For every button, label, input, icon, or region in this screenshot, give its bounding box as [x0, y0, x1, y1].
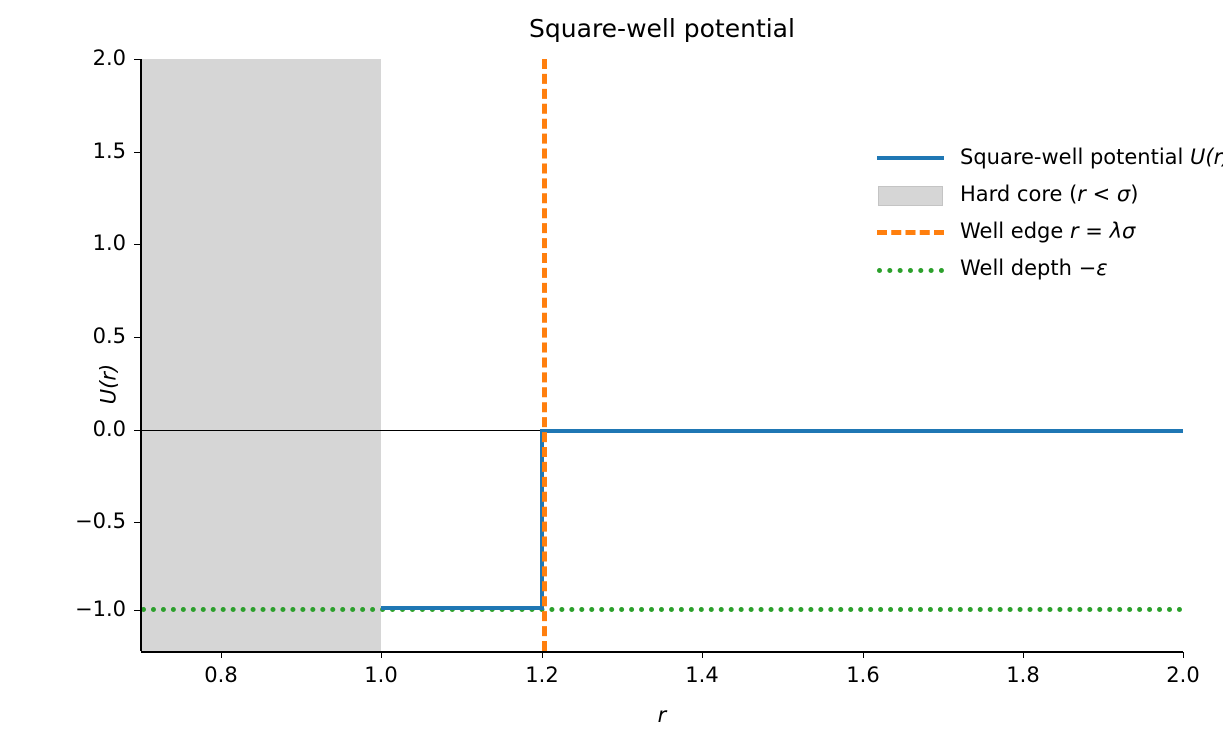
- y-tick-label: 0.5: [16, 324, 126, 349]
- x-tick-label: 2.0: [1143, 663, 1223, 688]
- potential-curve-well-segment: [381, 606, 544, 610]
- well-edge-dashed-line: [542, 59, 547, 651]
- x-tick-mark: [1023, 652, 1024, 658]
- page-title: Square-well potential: [141, 14, 1183, 44]
- x-tick-label: 1.6: [823, 663, 903, 688]
- dashed-line-handle-icon: [877, 220, 944, 244]
- well-depth-dotted-line: [141, 607, 1183, 612]
- x-tick-mark: [1183, 652, 1184, 658]
- matplotlib-figure: Square-well potential 0.8 1.0 1.2 1.4 1.…: [0, 0, 1223, 751]
- x-tick-mark: [863, 652, 864, 658]
- potential-curve-outer-segment: [540, 429, 1183, 433]
- plot-axes: 0.8 1.0 1.2 1.4 1.6 1.8 2.0 2.0 1.5 1.0 …: [141, 59, 1183, 651]
- legend-item-hard-core[interactable]: Hard core (r < σ): [877, 176, 1223, 213]
- legend-item-square-well-potential[interactable]: Square-well potential U(r): [877, 139, 1223, 176]
- y-tick-label: 1.0: [16, 231, 126, 256]
- solid-line-handle-icon: [877, 146, 944, 170]
- legend-item-label: Well depth −ε: [960, 256, 1108, 281]
- y-tick-label: −1.0: [16, 597, 126, 622]
- chart-legend: Square-well potential U(r) Hard core (r …: [877, 139, 1223, 287]
- x-tick-label: 1.8: [983, 663, 1063, 688]
- x-tick-label: 1.0: [341, 663, 421, 688]
- x-tick-label: 0.8: [181, 663, 261, 688]
- legend-item-well-depth[interactable]: Well depth −ε: [877, 250, 1223, 287]
- filled-patch-handle-icon: [877, 183, 944, 207]
- hard-core-shaded-region: [141, 59, 381, 651]
- y-tick-label: 2.0: [16, 46, 126, 71]
- dotted-line-handle-icon: [877, 257, 944, 281]
- y-tick-label: 1.5: [16, 139, 126, 164]
- y-tick-label: −0.5: [16, 509, 126, 534]
- legend-item-label: Well edge r = λσ: [960, 219, 1135, 244]
- y-tick-label: 0.0: [16, 417, 126, 442]
- x-tick-label: 1.4: [662, 663, 742, 688]
- legend-item-label: Hard core (r < σ): [960, 182, 1138, 207]
- x-axis-label: r: [141, 703, 1183, 728]
- y-axis-label: U(r): [97, 364, 122, 404]
- x-tick-mark: [702, 652, 703, 658]
- x-tick-mark: [542, 652, 543, 658]
- bottom-axis-spine: [141, 651, 1183, 653]
- left-axis-spine: [140, 59, 142, 651]
- x-tick-mark: [221, 652, 222, 658]
- legend-item-well-edge[interactable]: Well edge r = λσ: [877, 213, 1223, 250]
- x-tick-label: 1.2: [502, 663, 582, 688]
- x-tick-mark: [381, 652, 382, 658]
- legend-item-label: Square-well potential U(r): [960, 145, 1223, 170]
